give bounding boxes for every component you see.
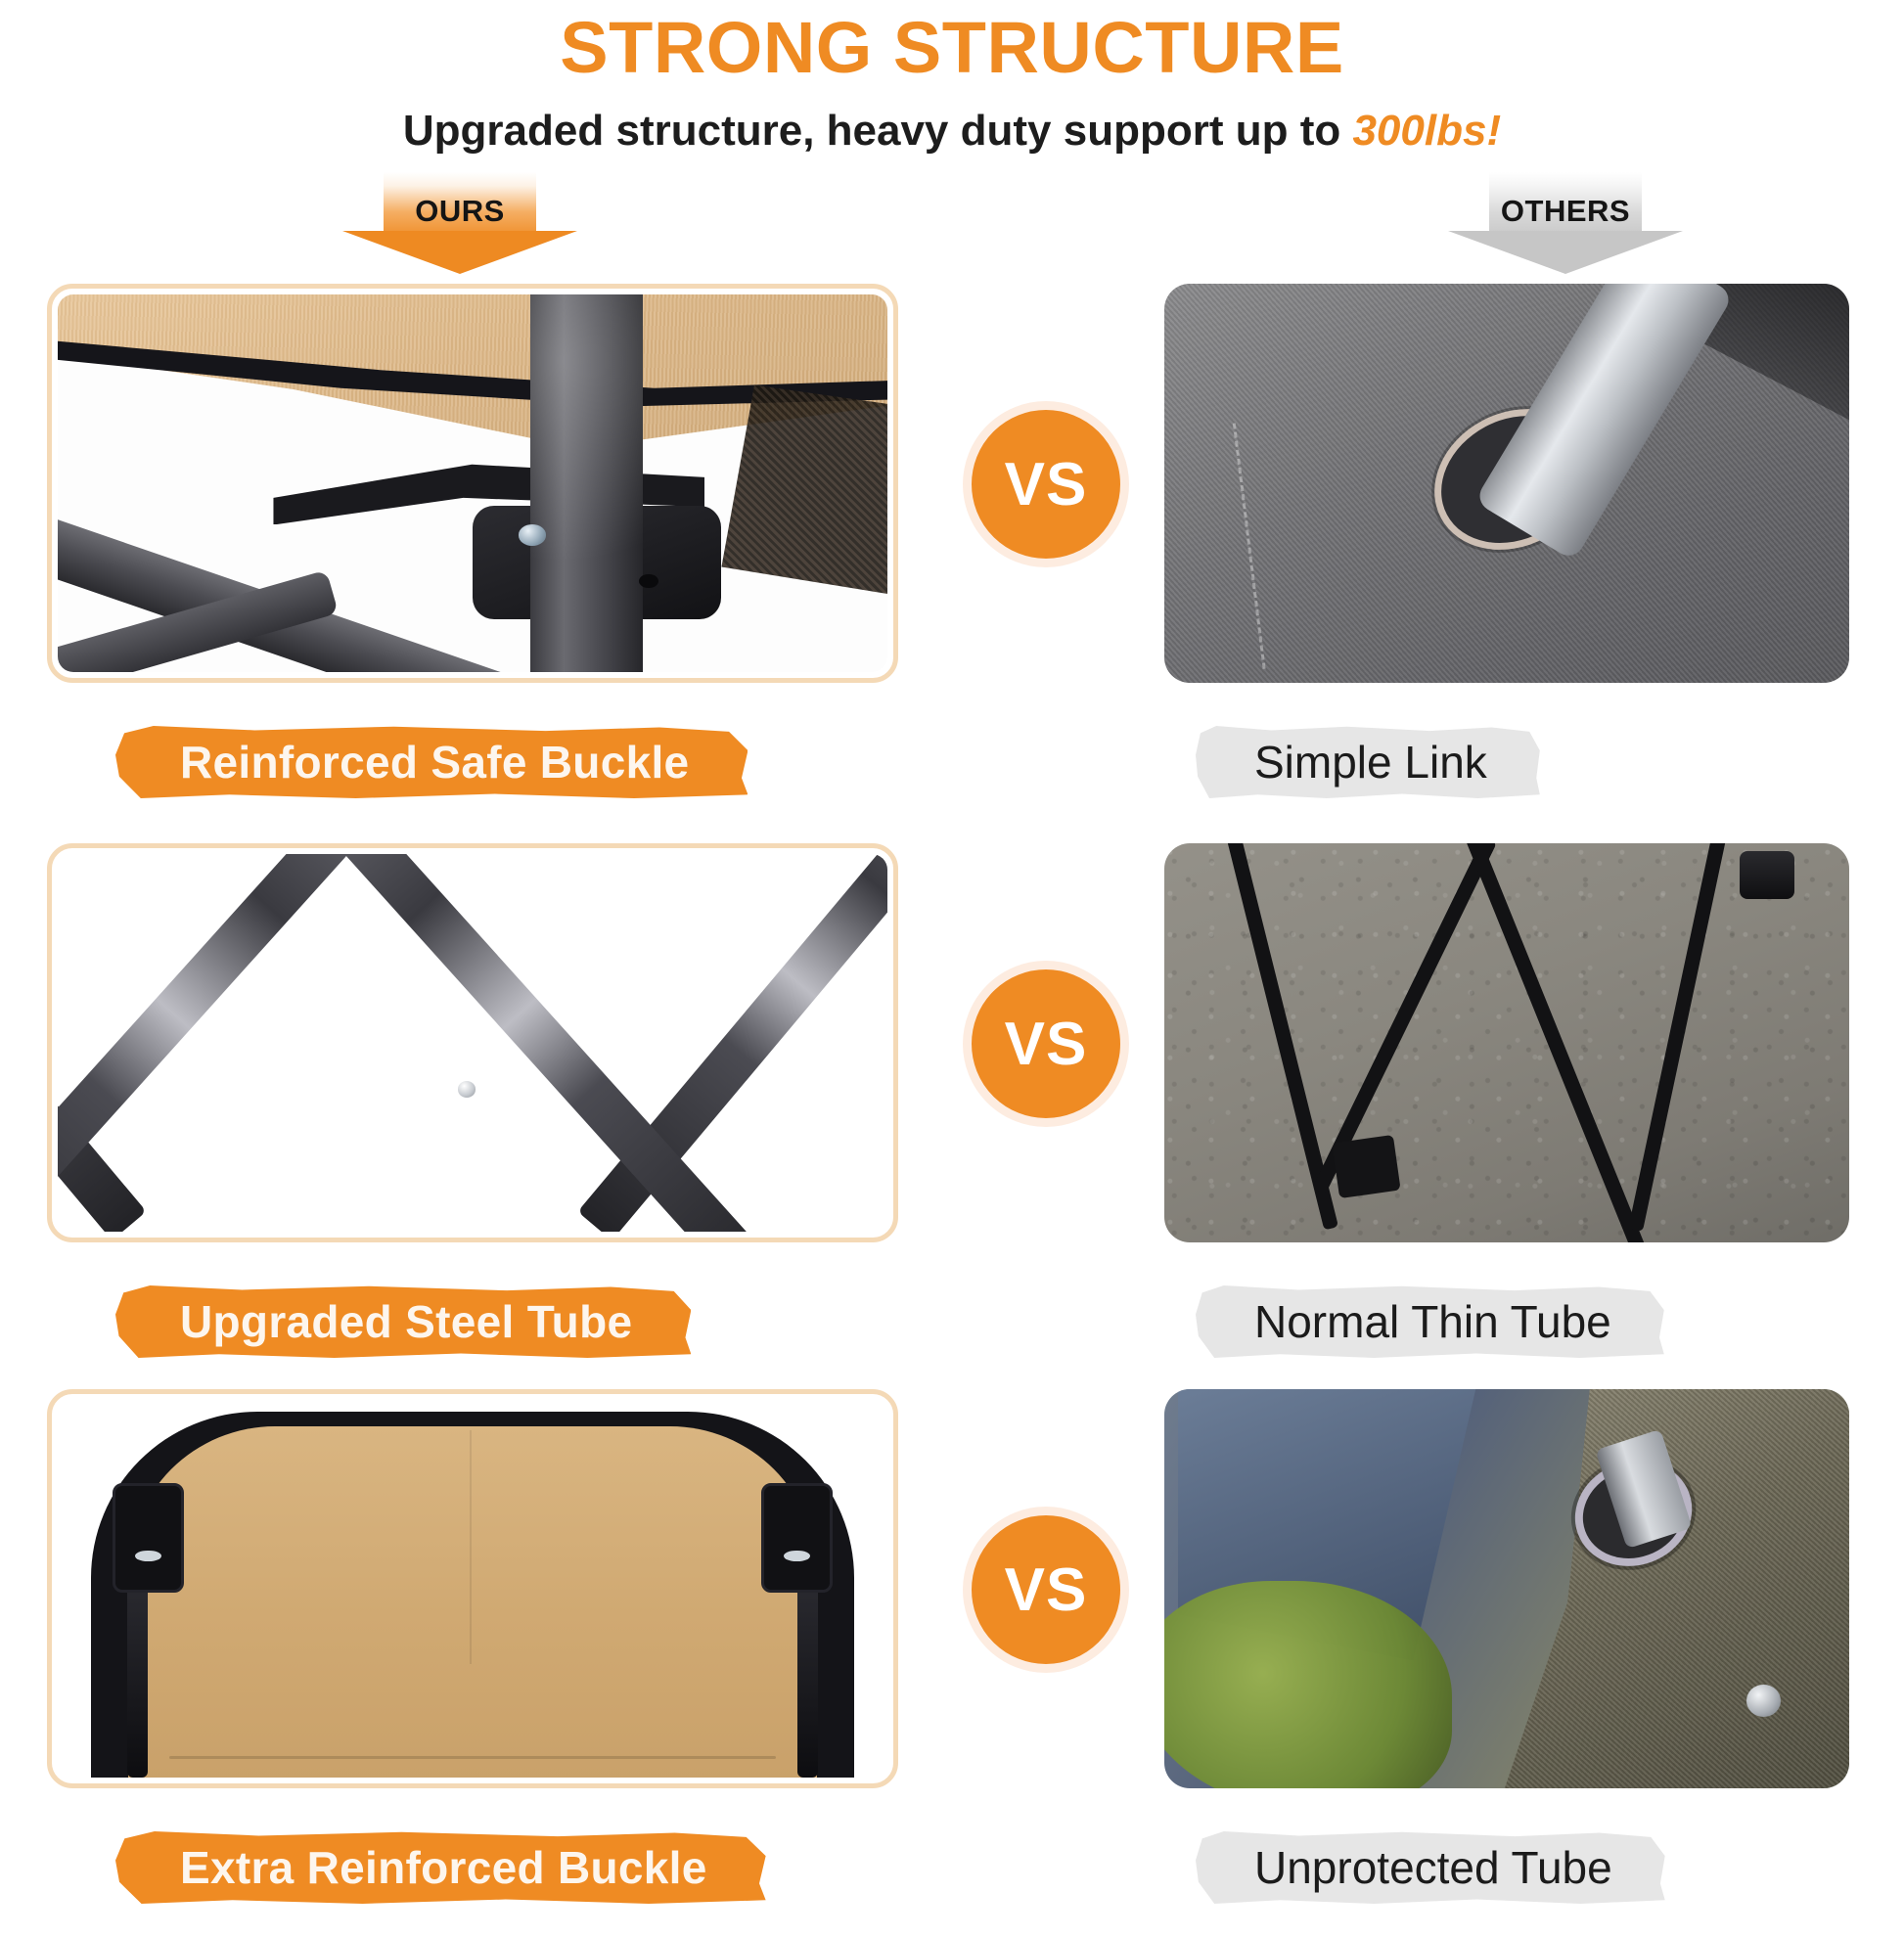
others-label-text: OTHERS <box>1448 194 1683 229</box>
ours-photo-panel-3 <box>47 1389 898 1788</box>
rivet-icon <box>1746 1685 1781 1717</box>
grommet-photo-art <box>1164 284 1849 683</box>
rivet-icon <box>458 1081 476 1098</box>
x-brace-photo-art <box>58 854 887 1232</box>
ours-arrow-label: OURS <box>342 172 577 274</box>
thin-tube-4 <box>1628 843 1729 1232</box>
others-caption-3: Unprotected Tube <box>1196 1831 1665 1904</box>
arrow-down-icon <box>1448 231 1683 274</box>
ours-caption-1: Reinforced Safe Buckle <box>115 726 748 798</box>
steel-tube-cross-b <box>311 854 781 1232</box>
vs-badge-2: VS <box>963 961 1129 1127</box>
comparison-row-1: VS Reinforced Safe Buckle Simple Link <box>0 284 1904 832</box>
others-photo-panel-3 <box>1164 1389 1849 1788</box>
left-frame-cord <box>127 1581 147 1778</box>
infographic-page: STRONG STRUCTURE Upgraded structure, hea… <box>0 0 1904 1904</box>
upgraded-steel-tube-photo <box>58 854 887 1232</box>
page-subtitle: Upgraded structure, heavy duty support u… <box>0 110 1904 153</box>
buckle-photo-art <box>58 294 887 672</box>
page-title: STRONG STRUCTURE <box>0 12 1904 84</box>
fabric-crease <box>470 1430 472 1664</box>
reinforced-safe-buckle-photo <box>58 294 887 672</box>
ours-label-text: OURS <box>342 194 577 229</box>
subtitle-highlight: 300lbs! <box>1352 107 1501 155</box>
steel-tube-outer-right <box>578 854 887 1232</box>
thin-tube-3 <box>1462 843 1649 1242</box>
others-caption-2: Normal Thin Tube <box>1196 1285 1664 1358</box>
others-caption-1: Simple Link <box>1196 726 1540 798</box>
tan-padded-backrest <box>128 1426 817 1778</box>
tube-knob <box>1740 851 1794 899</box>
tube-foot <box>1332 1135 1400 1198</box>
thin-tube-photo-art <box>1164 843 1849 1242</box>
ours-caption-2: Upgraded Steel Tube <box>115 1285 691 1358</box>
vs-badge-3: VS <box>963 1507 1129 1673</box>
arrow-down-icon <box>342 231 577 274</box>
subtitle-text: Upgraded structure, heavy duty support u… <box>403 107 1353 155</box>
left-reinforced-buckle <box>113 1483 184 1593</box>
normal-thin-tube-photo <box>1164 843 1849 1242</box>
pin-hole <box>639 574 658 589</box>
ours-photo-panel-1 <box>47 284 898 683</box>
others-arrow-label: OTHERS <box>1448 172 1683 274</box>
simple-link-grommet-photo <box>1164 284 1849 683</box>
others-photo-panel-2 <box>1164 843 1849 1242</box>
header: STRONG STRUCTURE Upgraded structure, hea… <box>0 0 1904 153</box>
worn-tube-photo-art <box>1164 1389 1849 1788</box>
backrest-photo-art <box>58 1400 887 1778</box>
ours-caption-3: Extra Reinforced Buckle <box>115 1831 766 1904</box>
comparison-row-3: VS Extra Reinforced Buckle Unprotected T… <box>0 1389 1904 1937</box>
others-photo-panel-1 <box>1164 284 1849 683</box>
vertical-steel-tube <box>530 294 642 672</box>
unprotected-tube-photo <box>1164 1389 1849 1788</box>
ours-photo-panel-2 <box>47 843 898 1242</box>
right-reinforced-buckle <box>761 1483 833 1593</box>
extra-reinforced-buckle-photo <box>58 1400 887 1778</box>
vs-badge-1: VS <box>963 401 1129 567</box>
right-frame-cord <box>797 1581 817 1778</box>
comparison-row-2: VS Upgraded Steel Tube Normal Thin Tube <box>0 843 1904 1391</box>
